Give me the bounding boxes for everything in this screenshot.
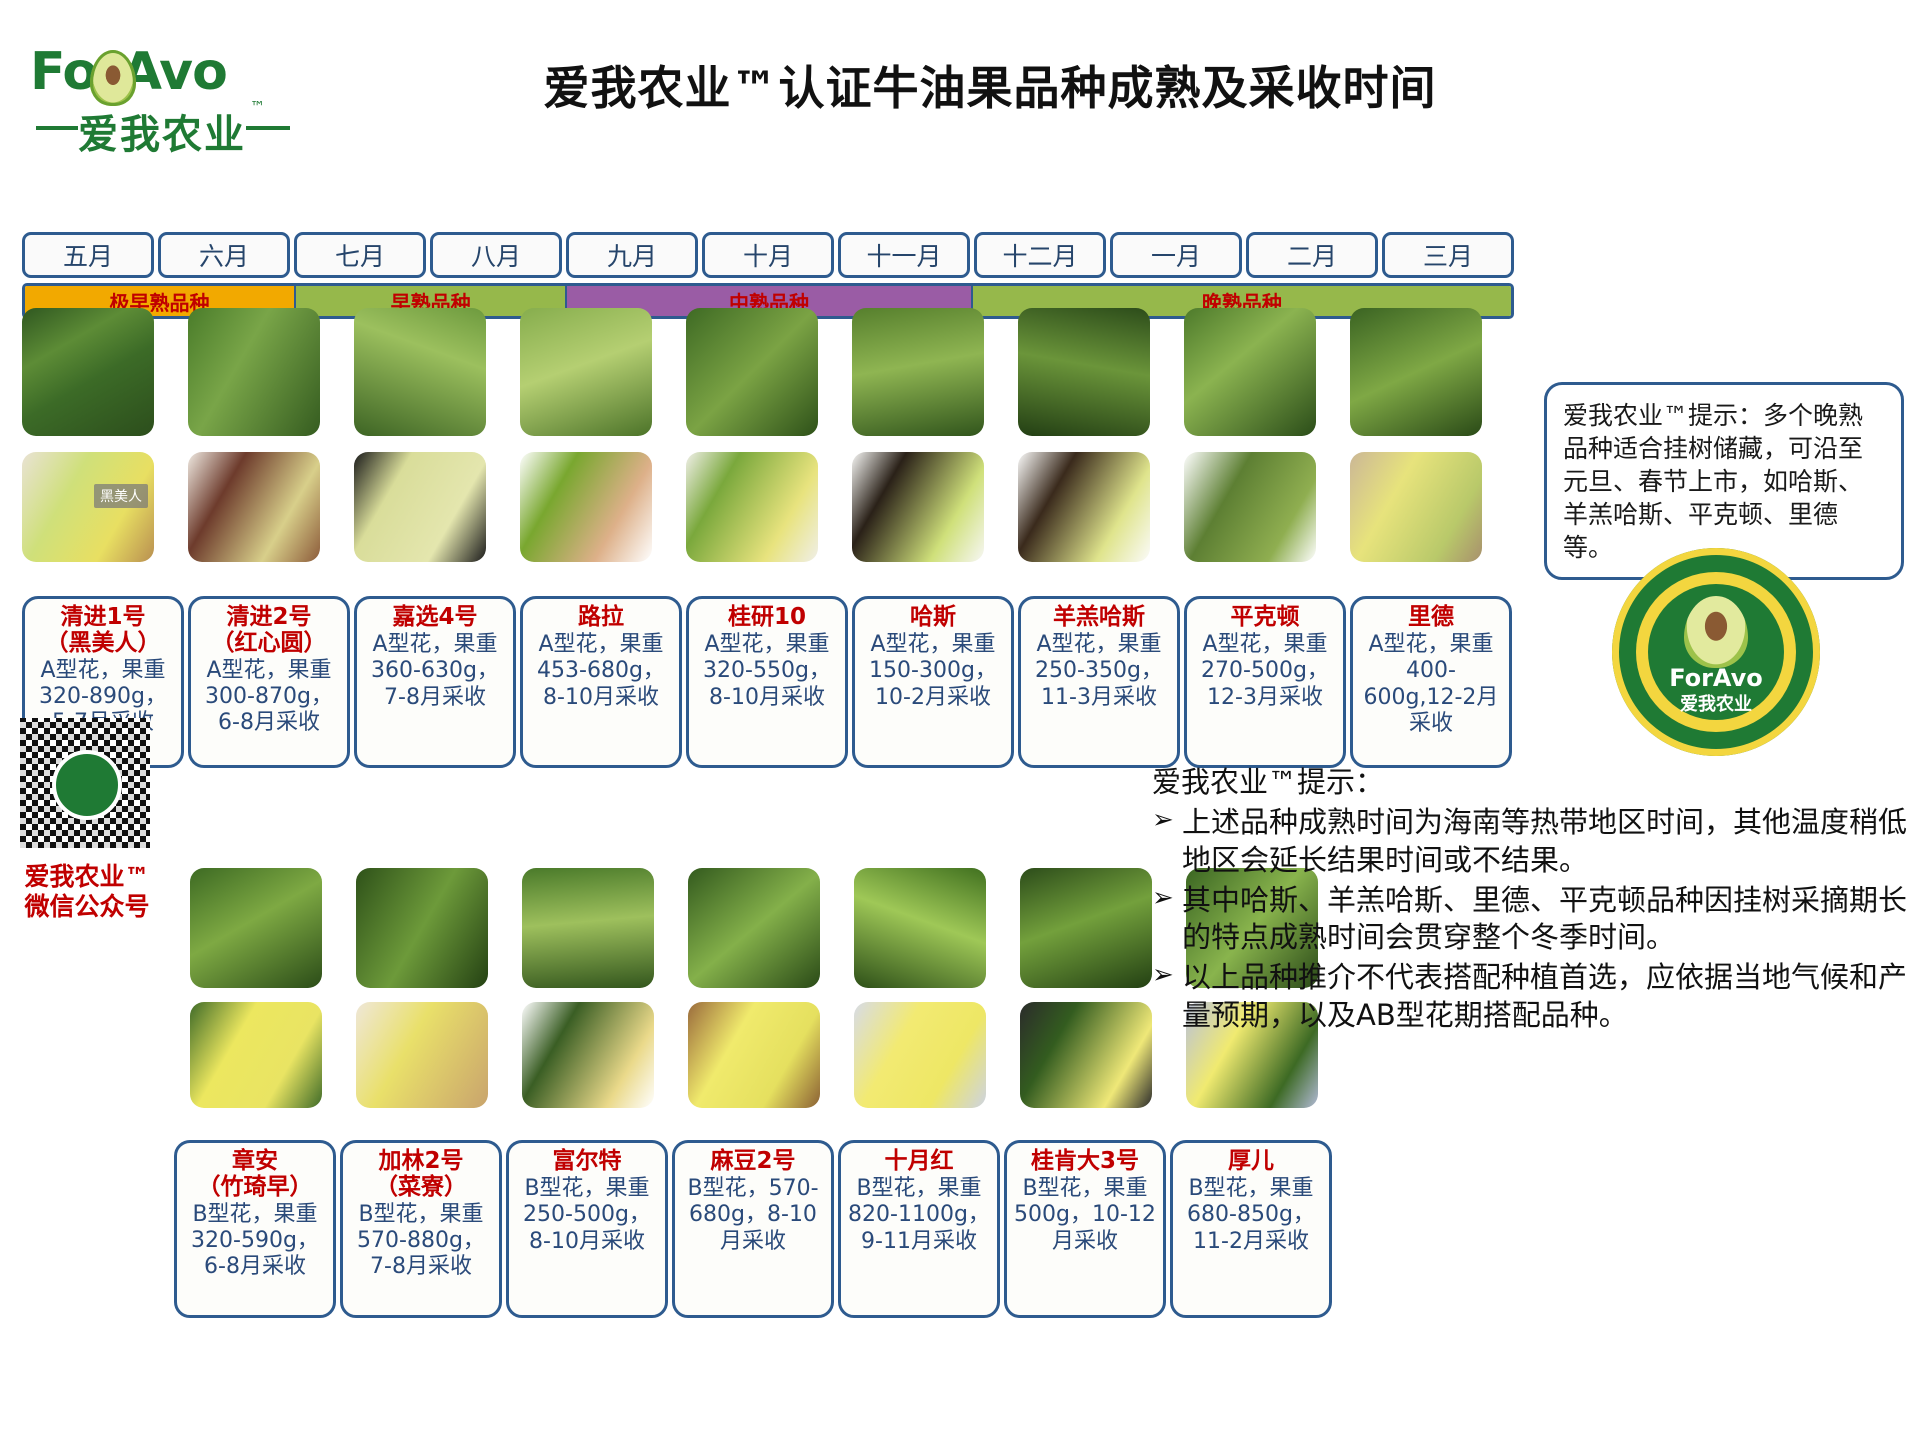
variety-card[interactable]: 路拉A型花，果重453-680g，8-10月采收	[520, 596, 682, 768]
cut-photo-13	[688, 1002, 820, 1108]
variety-name: 路拉	[527, 605, 675, 631]
logo-chinese-name: 爱我农业	[78, 102, 246, 160]
tree-photo-14	[854, 868, 986, 988]
month-cell[interactable]: 三月	[1382, 232, 1514, 278]
variety-alias: （红心圆）	[195, 631, 343, 657]
notes-panel: 爱我农业™提示： ➢上述品种成熟时间为海南等热带地区时间，其他温度稍低地区会延长…	[1152, 764, 1912, 1036]
note-text: 其中哈斯、羊羔哈斯、里德、平克顿品种因挂树采摘期长的特点成熟时间会贯穿整个冬季时…	[1182, 882, 1912, 957]
variety-card[interactable]: 羊羔哈斯A型花，果重250-350g，11-3月采收	[1018, 596, 1180, 768]
month-cell[interactable]: 十一月	[838, 232, 970, 278]
variety-alias: （竹琦早）	[181, 1175, 329, 1201]
variety-card[interactable]: 清进2号（红心圆）A型花，果重300-870g，6-8月采收	[188, 596, 350, 768]
variety-description: A型花，果重453-680g，8-10月采收	[527, 632, 675, 711]
bullet-icon: ➢	[1152, 959, 1182, 993]
month-cell[interactable]: 五月	[22, 232, 154, 278]
variety-description: A型花，果重150-300g，10-2月采收	[859, 632, 1007, 711]
variety-name: 桂肯大3号	[1011, 1149, 1159, 1175]
variety-card[interactable]: 十月红B型花，果重820-1100g，9-11月采收	[838, 1140, 1000, 1318]
variety-description: B型花，果重680-850g，11-2月采收	[1177, 1176, 1325, 1255]
variety-name: 清进2号	[195, 605, 343, 631]
variety-name: 清进1号	[29, 605, 177, 631]
tree-photo-6	[852, 308, 984, 436]
variety-alias: （黑美人）	[29, 631, 177, 657]
note-item: ➢上述品种成熟时间为海南等热带地区时间，其他温度稍低地区会延长结果时间或不结果。	[1152, 804, 1912, 879]
month-cell[interactable]: 六月	[158, 232, 290, 278]
qr-label-line2: 微信公众号	[12, 892, 162, 922]
variety-description: B型花，果重250-500g，8-10月采收	[513, 1176, 661, 1255]
cut-photo-3	[354, 452, 486, 562]
note-item: ➢以上品种推介不代表搭配种植首选，应依据当地气候和产量预期，以及AB型花期搭配品…	[1152, 959, 1912, 1034]
variety-name: 富尔特	[513, 1149, 661, 1175]
variety-description: A型花，果重300-870g，6-8月采收	[195, 658, 343, 737]
variety-name: 哈斯	[859, 605, 1007, 631]
cut-photo-12	[522, 1002, 654, 1108]
variety-card[interactable]: 桂肯大3号B型花，果重500g，10-12月采收	[1004, 1140, 1166, 1318]
seal-wordmark: ForAvo	[1648, 664, 1784, 692]
cut-photo-9	[1350, 452, 1482, 562]
variety-name: 章安	[181, 1149, 329, 1175]
tree-photo-7	[1018, 308, 1150, 436]
month-cell[interactable]: 二月	[1246, 232, 1378, 278]
variety-description: B型花，果重820-1100g，9-11月采收	[845, 1176, 993, 1255]
tip-box-text: 爱我农业™提示：多个晚熟品种适合挂树储藏，可沿至元旦、春节上市，如哈斯、羊羔哈斯…	[1563, 399, 1885, 564]
notes-heading: 爱我农业™提示：	[1152, 764, 1912, 800]
variety-card[interactable]: 富尔特B型花，果重250-500g，8-10月采收	[506, 1140, 668, 1318]
tree-photo-5	[686, 308, 818, 436]
cut-photo-6	[852, 452, 984, 562]
month-cell[interactable]: 一月	[1110, 232, 1242, 278]
variety-alias: （菜寮）	[347, 1175, 495, 1201]
logo-rule-right	[246, 126, 290, 130]
bullet-icon: ➢	[1152, 882, 1182, 916]
variety-name: 羊羔哈斯	[1025, 605, 1173, 631]
variety-card[interactable]: 加林2号（菜寮）B型花，果重570-880g，7-8月采收	[340, 1140, 502, 1318]
variety-card[interactable]: 厚儿B型花，果重680-850g，11-2月采收	[1170, 1140, 1332, 1318]
variety-card[interactable]: 哈斯A型花，果重150-300g，10-2月采收	[852, 596, 1014, 768]
tree-photo-10	[190, 868, 322, 988]
variety-name: 平克顿	[1191, 605, 1339, 631]
variety-name: 加林2号	[347, 1149, 495, 1175]
qr-center-logo	[52, 750, 122, 820]
month-cell[interactable]: 十月	[702, 232, 834, 278]
seal-chinese-name: 爱我农业	[1648, 690, 1784, 716]
tree-photo-9	[1350, 308, 1482, 436]
cut-photo-caption: 黑美人	[94, 484, 148, 508]
month-cell[interactable]: 十二月	[974, 232, 1106, 278]
variety-description: A型花，果重250-350g，11-3月采收	[1025, 632, 1173, 711]
tree-photo-15	[1020, 868, 1152, 988]
tree-photo-2	[188, 308, 320, 436]
variety-description: A型花，果重400-600g,12-2月采收	[1357, 632, 1505, 738]
variety-name: 麻豆2号	[679, 1149, 827, 1175]
tree-photo-3	[354, 308, 486, 436]
note-item: ➢其中哈斯、羊羔哈斯、里德、平克顿品种因挂树采摘期长的特点成熟时间会贯穿整个冬季…	[1152, 882, 1912, 957]
variety-name: 嘉选4号	[361, 605, 509, 631]
bullet-icon: ➢	[1152, 804, 1182, 838]
month-header-row: 五月六月七月八月九月十月十一月十二月一月二月三月	[22, 232, 1514, 278]
cut-photo-8	[1184, 452, 1316, 562]
qr-label-line1: 爱我农业™	[12, 862, 162, 892]
logo-trademark-symbol: ™	[250, 98, 265, 116]
tree-photo-13	[688, 868, 820, 988]
variety-card[interactable]: 里德A型花，果重400-600g,12-2月采收	[1350, 596, 1512, 768]
variety-name: 十月红	[845, 1149, 993, 1175]
variety-card[interactable]: 平克顿A型花，果重270-500g，12-3月采收	[1184, 596, 1346, 768]
month-cell[interactable]: 七月	[294, 232, 426, 278]
tree-photo-11	[356, 868, 488, 988]
tree-photo-4	[520, 308, 652, 436]
cut-photo-4	[520, 452, 652, 562]
cut-photo-7	[1018, 452, 1150, 562]
cut-photo-14	[854, 1002, 986, 1108]
variety-card[interactable]: 章安（竹琦早）B型花，果重320-590g，6-8月采收	[174, 1140, 336, 1318]
variety-card[interactable]: 麻豆2号B型花，570-680g，8-10月采收	[672, 1140, 834, 1318]
variety-card[interactable]: 嘉选4号A型花，果重360-630g，7-8月采收	[354, 596, 516, 768]
brand-logo: ForAvo 爱我农业 ™	[22, 38, 292, 146]
page-title: 爱我农业™认证牛油果品种成熟及采收时间	[430, 52, 1550, 118]
variety-name: 厚儿	[1177, 1149, 1325, 1175]
variety-description: B型花，果重570-880g，7-8月采收	[347, 1202, 495, 1281]
cut-photo-5	[686, 452, 818, 562]
month-cell[interactable]: 九月	[566, 232, 698, 278]
month-cell[interactable]: 八月	[430, 232, 562, 278]
variety-description: A型花，果重360-630g，7-8月采收	[361, 632, 509, 711]
variety-description: B型花，果重500g，10-12月采收	[1011, 1176, 1159, 1255]
variety-name: 桂研10	[693, 605, 841, 631]
tree-photo-12	[522, 868, 654, 988]
note-text: 上述品种成熟时间为海南等热带地区时间，其他温度稍低地区会延长结果时间或不结果。	[1182, 804, 1912, 879]
variety-description: A型花，果重320-550g，8-10月采收	[693, 632, 841, 711]
cut-photo-2	[188, 452, 320, 562]
tree-photo-1	[22, 308, 154, 436]
variety-card[interactable]: 桂研10A型花，果重320-550g，8-10月采收	[686, 596, 848, 768]
note-text: 以上品种推介不代表搭配种植首选，应依据当地气候和产量预期，以及AB型花期搭配品种…	[1182, 959, 1912, 1034]
cut-photo-15	[1020, 1002, 1152, 1108]
cut-photo-11	[356, 1002, 488, 1108]
tree-photo-8	[1184, 308, 1316, 436]
logo-rule-left	[36, 126, 78, 130]
variety-name: 里德	[1357, 605, 1505, 631]
cut-photo-10	[190, 1002, 322, 1108]
variety-description: A型花，果重270-500g，12-3月采收	[1191, 632, 1339, 711]
qr-label: 爱我农业™ 微信公众号	[12, 862, 162, 921]
variety-description: B型花，果重320-590g，6-8月采收	[181, 1202, 329, 1281]
variety-description: B型花，570-680g，8-10月采收	[679, 1176, 827, 1255]
timeline: 五月六月七月八月九月十月十一月十二月一月二月三月 极早熟品种早熟品种中熟品种晚熟…	[22, 232, 1514, 319]
